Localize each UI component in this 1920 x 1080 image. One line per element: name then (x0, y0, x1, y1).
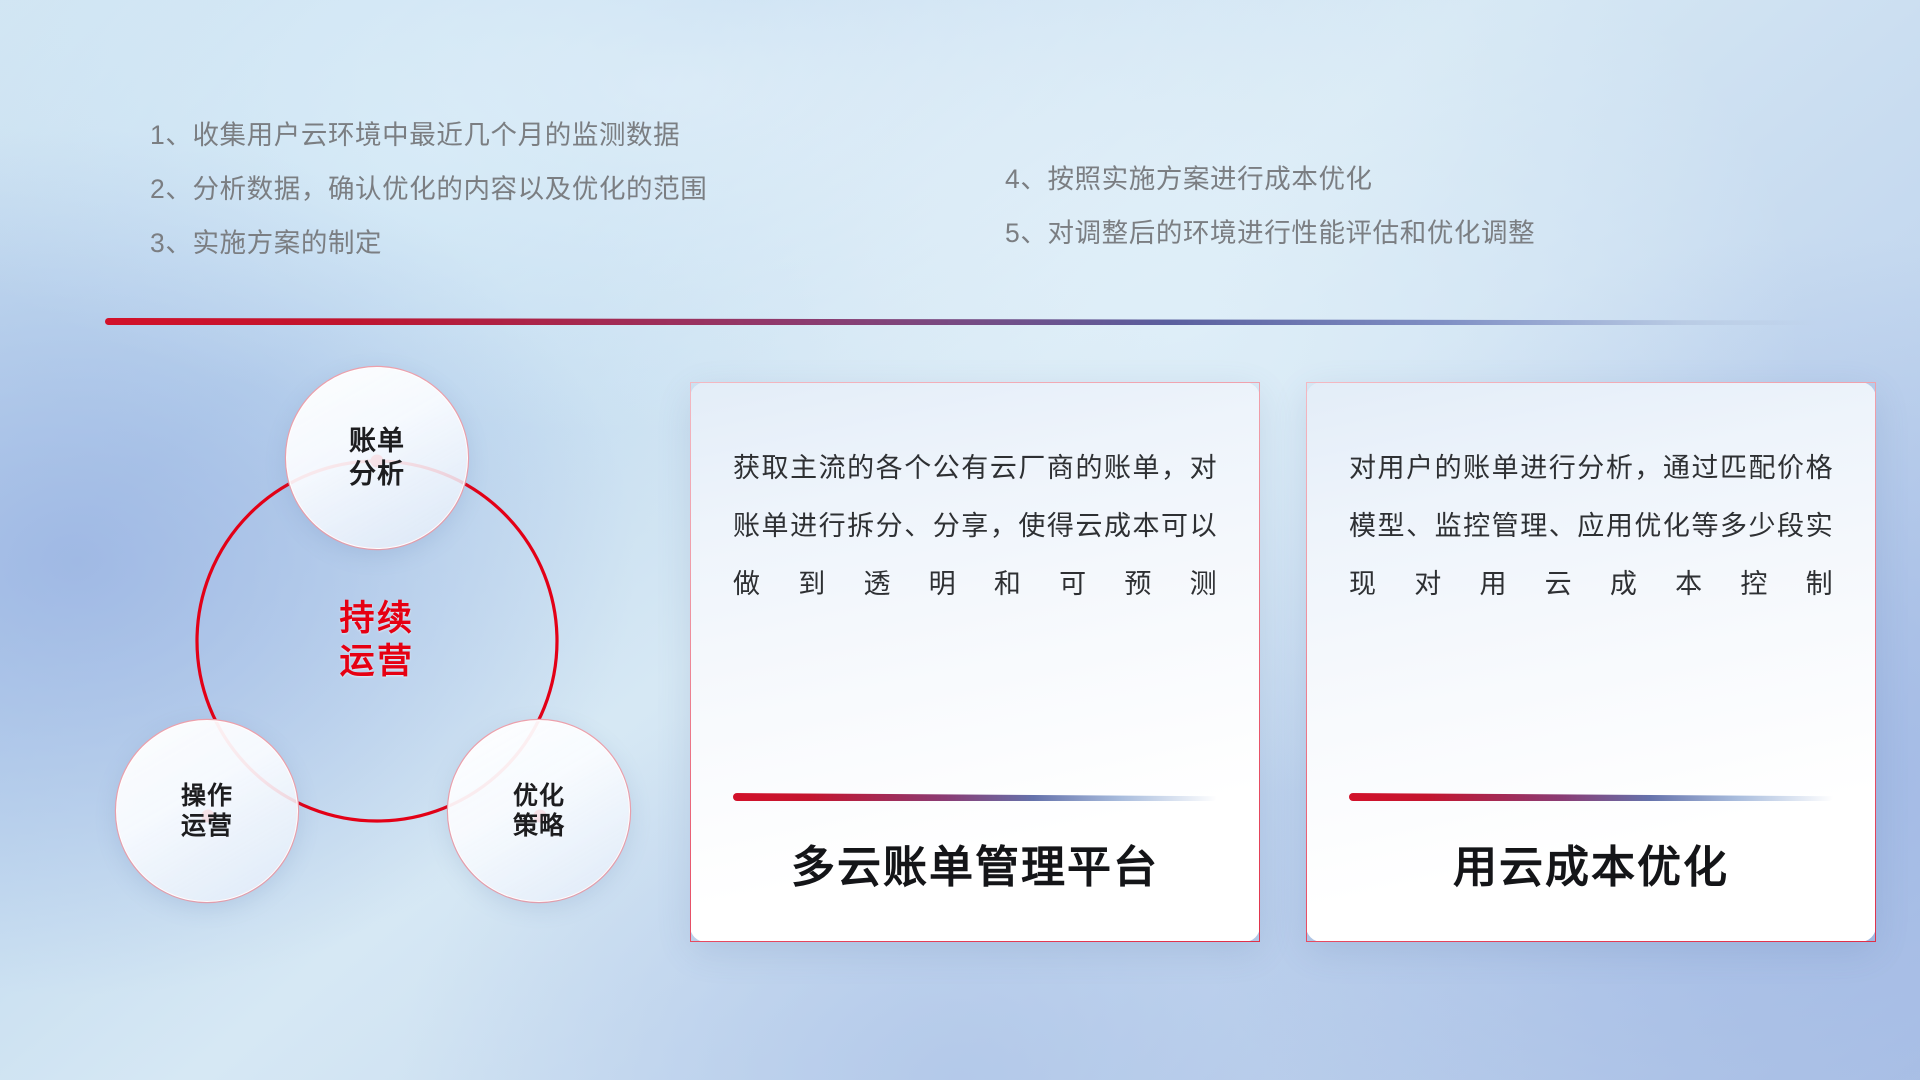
venn-center-line1: 持续 (339, 598, 414, 641)
bullet-item-4: 4、按照实施方案进行成本优化 (1005, 152, 1535, 206)
card-cloud-cost-optimization[interactable]: 对用户的账单进行分析，通过匹配价格模型、监控管理、应用优化等多少段实现对用云成本… (1306, 382, 1876, 942)
card-2-body: 对用户的账单进行分析，通过匹配价格模型、监控管理、应用优化等多少段实现对用云成本… (1349, 439, 1833, 613)
venn-bubble-top-line2: 分析 (349, 458, 405, 491)
card-1-body: 获取主流的各个公有云厂商的账单，对账单进行拆分、分享，使得云成本可以做到透明和可… (733, 439, 1217, 613)
venn-bubble-bill-analysis[interactable]: 账单 分析 (286, 367, 468, 549)
venn-center-line2: 运营 (339, 641, 414, 684)
bullet-list-right: 4、按照实施方案进行成本优化 5、对调整后的环境进行性能评估和优化调整 (1005, 152, 1535, 260)
card-1-title: 多云账单管理平台 (733, 831, 1217, 895)
venn-diagram: 账单 分析 操作 运营 优化 策略 持续 运营 (100, 350, 660, 960)
venn-bubble-operation-management[interactable]: 操作 运营 (116, 720, 298, 902)
bullet-item-3: 3、实施方案的制定 (150, 216, 707, 270)
bullet-list-left: 1、收集用户云环境中最近几个月的监测数据 2、分析数据，确认优化的内容以及优化的… (150, 108, 707, 270)
card-1-rule (733, 793, 1217, 801)
bullet-item-5: 5、对调整后的环境进行性能评估和优化调整 (1005, 206, 1535, 260)
bullet-item-2: 2、分析数据，确认优化的内容以及优化的范围 (150, 162, 707, 216)
card-2-rule (1349, 793, 1833, 801)
venn-bubble-left-line1: 操作 (181, 781, 233, 812)
venn-bubble-left-line2: 运营 (181, 811, 233, 842)
venn-bubble-right-line2: 策略 (513, 811, 565, 842)
venn-bubble-right-line1: 优化 (513, 781, 565, 812)
venn-bubble-optimization-strategy[interactable]: 优化 策略 (448, 720, 630, 902)
section-divider (105, 318, 1820, 325)
venn-center-label: 持续 运营 (286, 550, 468, 732)
card-multi-cloud-bill-platform[interactable]: 获取主流的各个公有云厂商的账单，对账单进行拆分、分享，使得云成本可以做到透明和可… (690, 382, 1260, 942)
bullet-item-1: 1、收集用户云环境中最近几个月的监测数据 (150, 108, 707, 162)
card-2-title: 用云成本优化 (1349, 831, 1833, 895)
slide-root: 1、收集用户云环境中最近几个月的监测数据 2、分析数据，确认优化的内容以及优化的… (0, 0, 1920, 1080)
venn-bubble-top-line1: 账单 (349, 425, 405, 458)
